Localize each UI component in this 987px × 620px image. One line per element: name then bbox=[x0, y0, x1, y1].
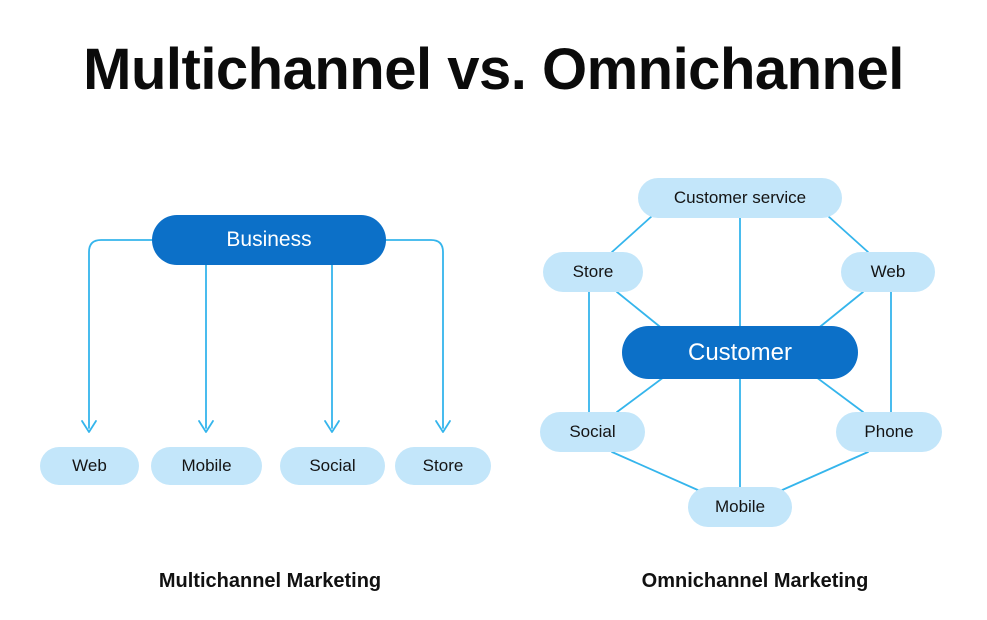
node-right-web-label: Web bbox=[871, 262, 906, 282]
node-right-mobile-label: Mobile bbox=[715, 497, 765, 517]
arrowhead-store bbox=[436, 421, 450, 432]
edge-service-store bbox=[612, 216, 652, 252]
node-customer-service-label: Customer service bbox=[674, 188, 806, 208]
node-right-phone[interactable]: Phone bbox=[836, 412, 942, 452]
edge-business-web bbox=[89, 240, 152, 428]
edge-customer-social bbox=[617, 377, 664, 412]
edge-web-customer bbox=[816, 292, 863, 330]
page-title: Multichannel vs. Omnichannel bbox=[0, 36, 987, 103]
node-customer[interactable]: Customer bbox=[622, 326, 858, 379]
node-right-phone-label: Phone bbox=[864, 422, 913, 442]
node-left-web-label: Web bbox=[72, 456, 107, 476]
node-customer-label: Customer bbox=[688, 339, 792, 367]
edge-social-mobile bbox=[612, 452, 700, 491]
node-left-social[interactable]: Social bbox=[280, 447, 385, 485]
arrowhead-web bbox=[82, 421, 96, 432]
arrowhead-social bbox=[325, 421, 339, 432]
node-left-mobile-label: Mobile bbox=[181, 456, 231, 476]
edge-store-customer bbox=[617, 292, 664, 330]
diagram-canvas: Multichannel vs. Omnichannel bbox=[0, 0, 987, 620]
node-left-store[interactable]: Store bbox=[395, 447, 491, 485]
caption-multichannel: Multichannel Marketing bbox=[40, 570, 500, 593]
node-right-store[interactable]: Store bbox=[543, 252, 643, 292]
node-right-mobile[interactable]: Mobile bbox=[688, 487, 792, 527]
node-right-social-label: Social bbox=[569, 422, 615, 442]
caption-omnichannel: Omnichannel Marketing bbox=[530, 570, 980, 593]
node-business[interactable]: Business bbox=[152, 215, 386, 265]
node-customer-service[interactable]: Customer service bbox=[638, 178, 842, 218]
edge-service-web bbox=[828, 216, 868, 252]
edge-business-store bbox=[385, 240, 443, 428]
node-business-label: Business bbox=[226, 228, 311, 252]
node-right-store-label: Store bbox=[573, 262, 614, 282]
node-left-web[interactable]: Web bbox=[40, 447, 139, 485]
node-left-store-label: Store bbox=[423, 456, 464, 476]
node-left-social-label: Social bbox=[309, 456, 355, 476]
node-left-mobile[interactable]: Mobile bbox=[151, 447, 262, 485]
arrowhead-mobile bbox=[199, 421, 213, 432]
edge-phone-mobile bbox=[780, 452, 868, 491]
edge-customer-phone bbox=[816, 377, 863, 412]
node-right-social[interactable]: Social bbox=[540, 412, 645, 452]
node-right-web[interactable]: Web bbox=[841, 252, 935, 292]
